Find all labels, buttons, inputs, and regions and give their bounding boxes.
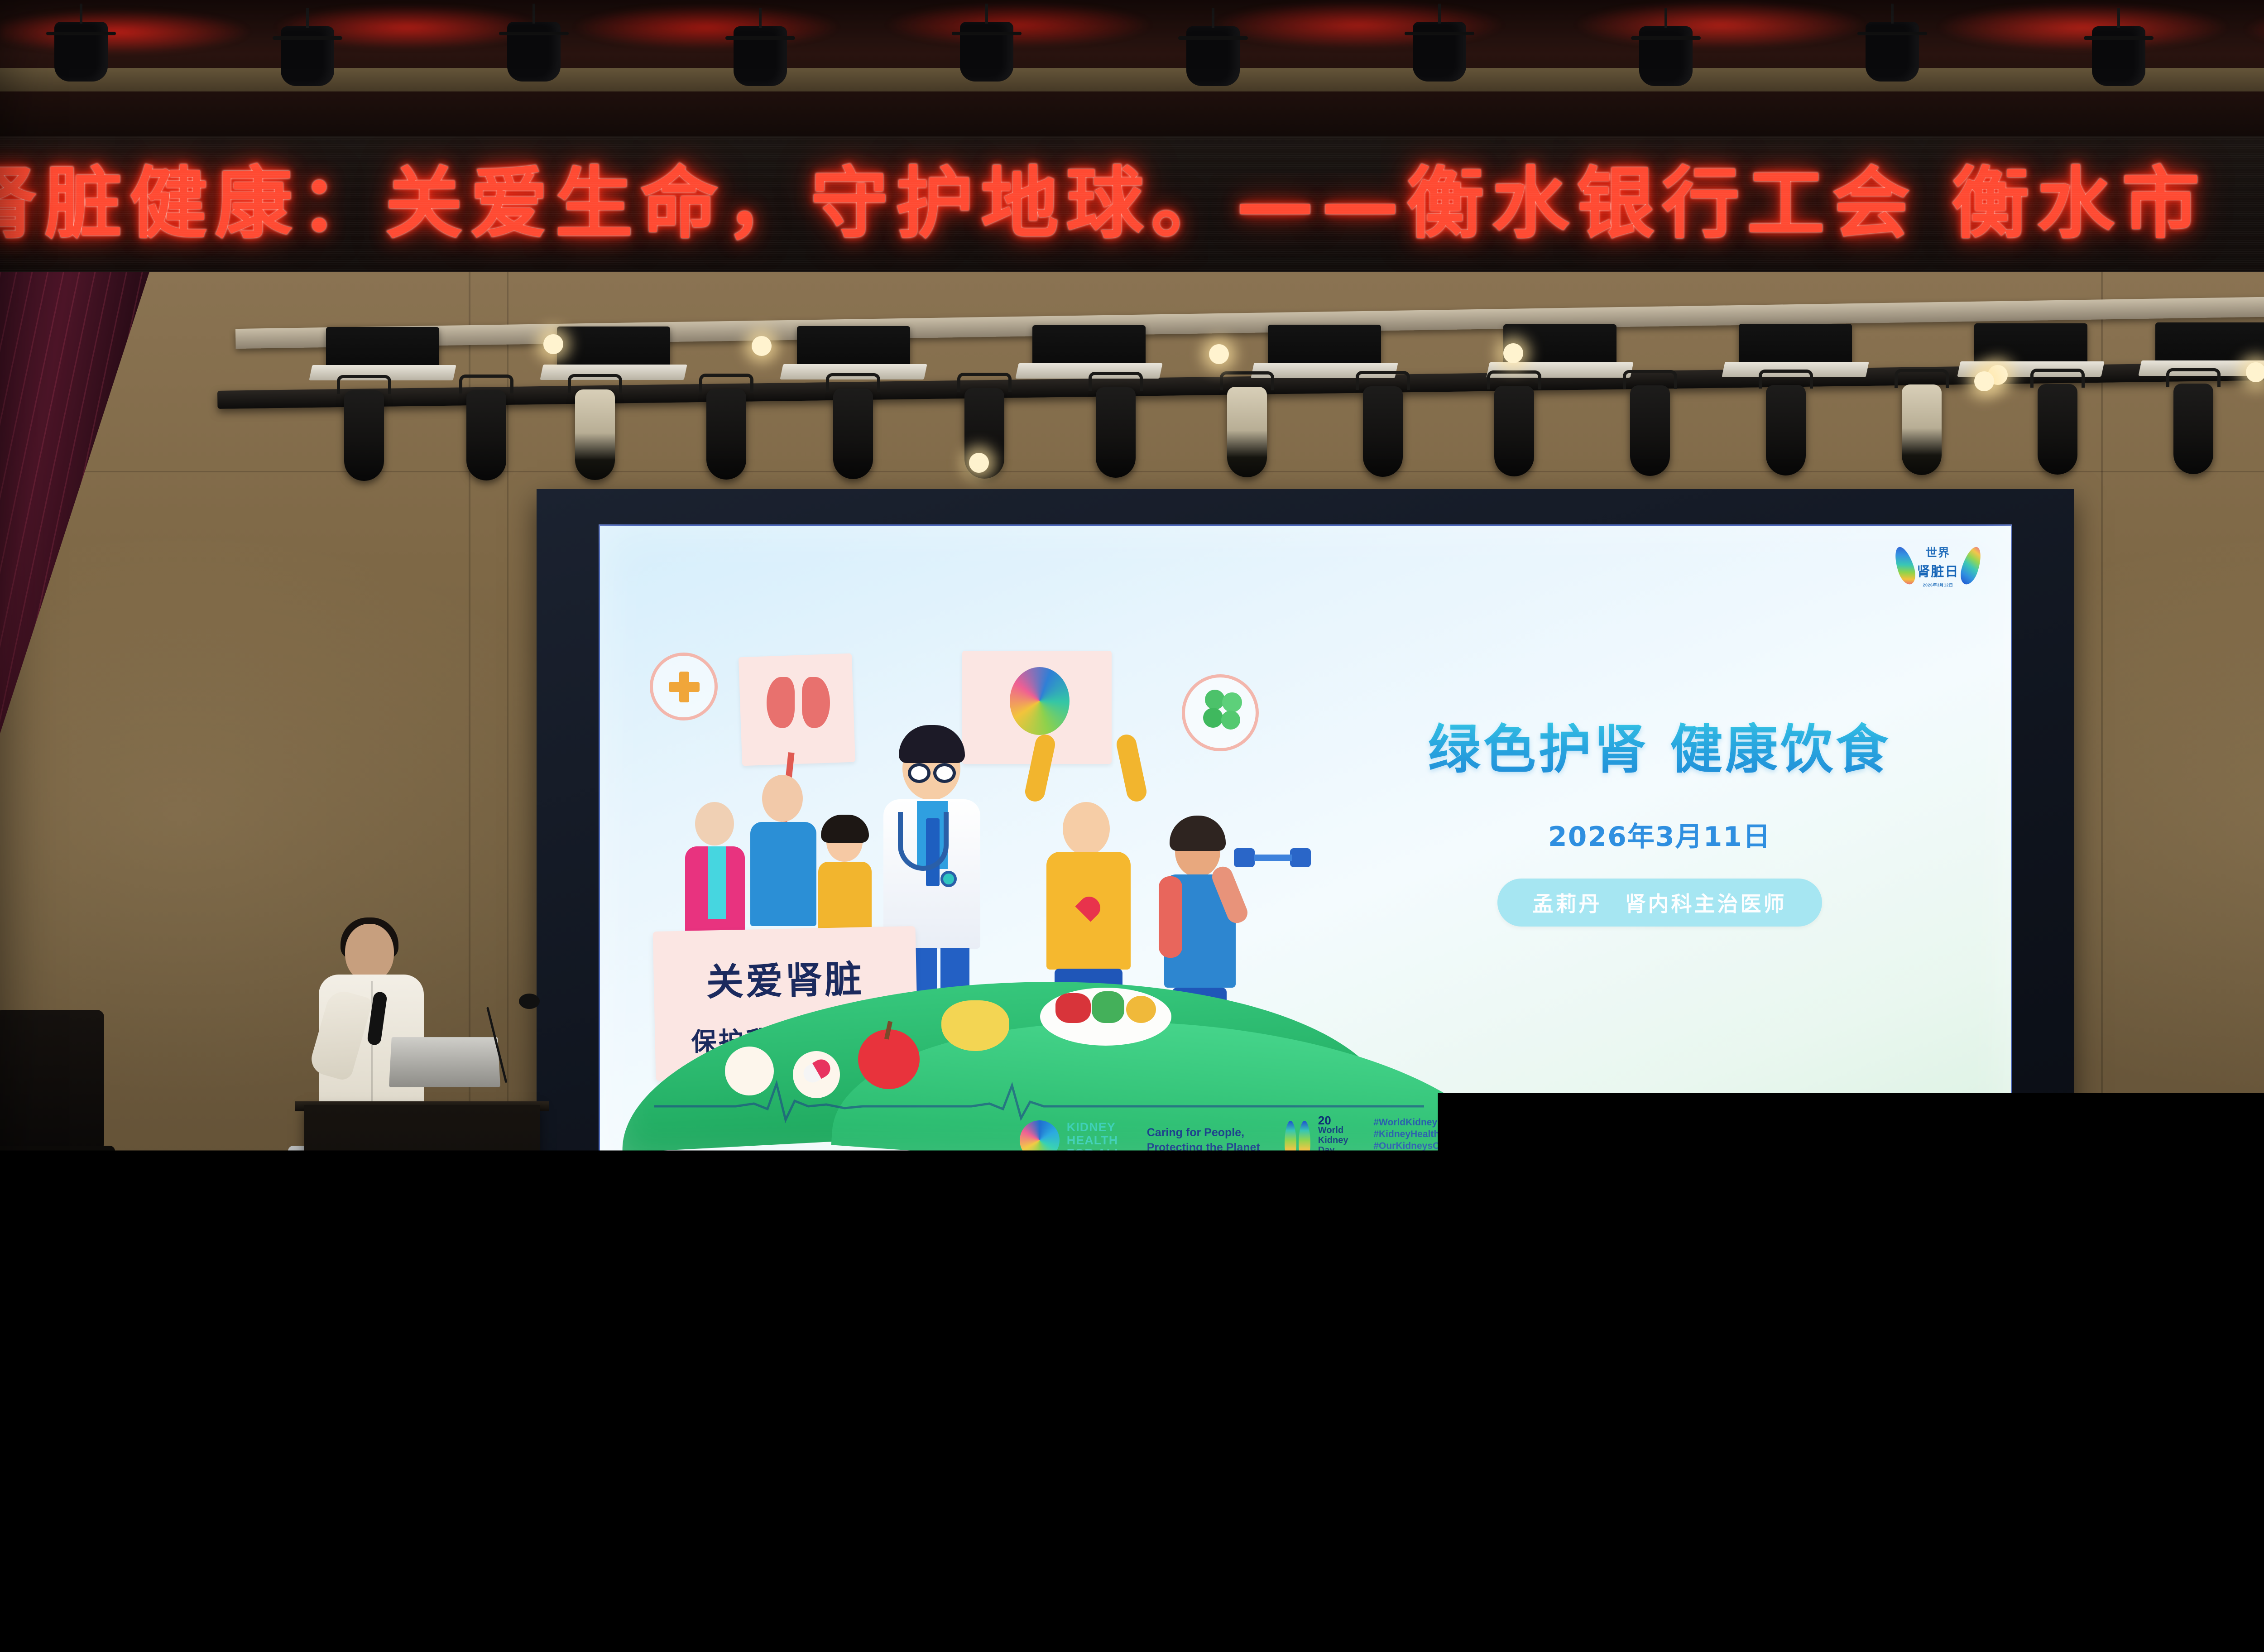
chair-cover-text: 有温度的银行 — [2240, 1536, 2264, 1549]
crowd-person-bald-blue — [762, 775, 803, 822]
wkd-logo-line1: 世界 — [1917, 544, 1959, 560]
spotlight-yoke — [1895, 369, 1949, 388]
wkd-small-line3: Day — [1318, 1145, 1349, 1155]
chair-cover-text: 有温度的银行 — [1503, 1453, 1653, 1466]
chair-fold — [1577, 1575, 1729, 1585]
stage-spotlight — [1363, 386, 1403, 477]
chair-cover-text: 有温度的银行 — [1979, 1453, 2128, 1466]
spotlight-yoke — [957, 373, 1012, 392]
stage-floodlight — [1739, 324, 1852, 367]
spotlight-yoke — [1759, 370, 1813, 389]
chair-fold — [967, 1345, 1076, 1352]
chair-fold — [1191, 1487, 1325, 1495]
lit-lamp — [2246, 362, 2264, 382]
audience-chair — [2162, 1553, 2264, 1652]
chair-cover-text: 更懂自己的银行 — [752, 1649, 942, 1652]
isn-logo: ISN — [1512, 1138, 1530, 1151]
stage-spotlight — [344, 390, 384, 481]
audience-chair — [0, 1553, 136, 1652]
spotlight-yoke — [826, 373, 880, 392]
wkd-small-line2: Kidney — [1318, 1135, 1349, 1145]
audience-seating: 有温度的银行更懂自己的银行有温度的银行更懂自己的银行有温度的银行更懂自己的银行有… — [0, 1340, 2264, 1652]
ceiling-beam — [0, 68, 2264, 91]
raised-arm-right — [1115, 733, 1148, 803]
ceiling-parcan — [1866, 22, 1919, 82]
spotlight-yoke — [1089, 372, 1143, 391]
stage-spotlight — [466, 390, 506, 480]
chair-fold — [2152, 1409, 2264, 1417]
floor-monitor-speaker — [2232, 1225, 2264, 1309]
stethoscope-icon — [898, 812, 949, 871]
audience-person-head — [341, 1374, 415, 1516]
stethoscope-chestpiece — [940, 871, 957, 887]
armchair-back — [0, 1010, 104, 1150]
spotlight-yoke — [337, 375, 391, 394]
spotlight-yoke — [1356, 371, 1410, 390]
stage-spotlight — [1630, 385, 1670, 476]
wkd-logo-line2: 肾脏日 — [1917, 561, 1959, 580]
mic-capsule-icon — [519, 994, 540, 1009]
gooseneck-microphone — [475, 995, 543, 1081]
kidney-health-for-all-logo: KIDNEY HEALTH FOR ALL — [1020, 1120, 1122, 1160]
chair-fold — [1980, 1575, 2132, 1585]
crowd-person-woman-pink — [695, 802, 734, 845]
stage-floodlight — [1268, 325, 1381, 368]
stage-spotlight — [1766, 385, 1806, 475]
stage-spotlight — [833, 389, 873, 479]
chair-cover-text: 有温度的银行 — [1175, 1536, 1342, 1549]
wkd-leaf-right-icon — [1957, 545, 1985, 587]
lit-lamp — [543, 334, 563, 354]
chair-fold — [1831, 1345, 1940, 1352]
world-kidney-day-logo: 世界 肾脏日 2026年3月12日 — [1890, 541, 1986, 590]
wkd-leaf-left-icon — [1891, 545, 1919, 587]
stage-floodlight — [1032, 325, 1146, 369]
spotlight-yoke — [699, 374, 753, 393]
stage-spotlight — [575, 389, 615, 480]
ifkf-wka-logo: IFKF-WKA — [1535, 1138, 1591, 1151]
stage-spotlight — [706, 389, 746, 480]
wall-seam — [2101, 272, 2103, 1336]
wkd-logo-text: 世界 肾脏日 2026年3月12日 — [1917, 544, 1959, 588]
chair-fold — [2079, 1487, 2213, 1495]
chair-fold — [481, 1487, 615, 1495]
ecg-waveform-icon — [654, 1075, 1424, 1124]
chair-fold — [1543, 1345, 1652, 1352]
ceiling-parcan — [960, 22, 1013, 82]
doctor-glasses-right — [933, 763, 956, 783]
sign-line-1: 关爱肾脏 — [706, 949, 864, 1006]
floor-monitor-speaker — [625, 1218, 774, 1302]
medical-cross-icon — [669, 672, 700, 702]
stage-floodlight — [2155, 322, 2264, 366]
floor-monitor-speaker — [1037, 1220, 1186, 1304]
audience-chair — [1155, 1553, 1345, 1652]
chair-fold — [1174, 1575, 1326, 1585]
chair-cover-text: 有温度的银行 — [752, 1628, 942, 1642]
armchair-seat — [0, 1146, 115, 1186]
khfa-line2: HEALTH — [1067, 1134, 1122, 1147]
audience-person-head — [125, 1340, 189, 1432]
doctor-glasses-left — [908, 763, 931, 783]
stage-floodlight — [326, 327, 439, 370]
lit-lamp — [752, 336, 772, 356]
wkd-ribbon-icon — [1285, 1121, 1313, 1160]
chair-cover-text: 有温度的银行 — [77, 1453, 226, 1466]
presenter-head — [345, 924, 394, 982]
audience-person-head — [759, 1340, 823, 1432]
hashtag-3: #OurKidneysOurPlanet — [1373, 1140, 1478, 1152]
audience-person-head — [2027, 1340, 2091, 1432]
lit-lamp — [1503, 343, 1523, 363]
ceiling-parcan — [2092, 26, 2145, 86]
ceiling-parcan — [1413, 22, 1466, 82]
partner-note-2: a joint initiative of — [1512, 1129, 1591, 1135]
tagline-line1: Caring for People, — [1147, 1125, 1260, 1140]
lit-lamp — [1974, 371, 1994, 391]
audience-person-head — [1417, 1448, 1501, 1608]
chair-fold — [836, 1487, 970, 1495]
wkd-small-line1: World — [1318, 1125, 1349, 1135]
ceiling-parcan — [54, 22, 108, 82]
floor-monitor-speaker — [1639, 1222, 1789, 1306]
audience-chair: 有温度的银行更懂自己的银行 — [1961, 1553, 2151, 1652]
led-banner-text: 肾脏健康：关爱生命，守护地球。——衡水银行工会 衡水市 — [0, 154, 2207, 254]
slide-title: 绿色护肾 健康饮食 — [1343, 707, 1976, 783]
ceiling-parcan — [734, 26, 787, 86]
chair-fold — [884, 1409, 1004, 1417]
spotlight-yoke — [2030, 369, 2085, 388]
projection-screen-surface[interactable]: 世界 肾脏日 2026年3月12日 — [599, 524, 2012, 1176]
slide-date: 2026年3月11日 — [1343, 815, 1976, 854]
audience-chair — [349, 1553, 539, 1652]
website-url[interactable]: worldkidneyday.org — [1373, 1152, 1478, 1164]
doctor-hair — [899, 725, 965, 763]
spotlight-yoke — [2166, 368, 2221, 387]
spotlight-yoke — [459, 375, 513, 394]
wkd-logo-date: 2026年3月12日 — [1917, 582, 1959, 588]
chair-cover-text: 有温度的银行 — [1356, 1628, 1546, 1642]
chair-fold — [2256, 1487, 2264, 1495]
audience-chair — [1558, 1553, 1748, 1652]
slide-illustration: 关爱肾脏 保护我们的地球 — [645, 639, 1288, 1114]
audience-chair: 有温度的银行更懂自己的银行 — [752, 1553, 942, 1652]
chair-fold — [1901, 1487, 2035, 1495]
audience-person-head — [696, 1374, 770, 1516]
chair-fold — [368, 1575, 520, 1585]
kidneys-icon — [767, 677, 835, 740]
chair-fold — [2181, 1575, 2264, 1585]
chair-fold — [0, 1575, 117, 1585]
dumbbell-icon — [1234, 848, 1311, 867]
slide-speaker-badge: 孟莉丹 肾内科主治医师 — [1497, 879, 1822, 927]
stage-spotlight — [1902, 384, 1942, 475]
ceiling-parcan — [507, 22, 561, 82]
clover-leaf-icon — [1200, 690, 1246, 735]
mic-stem — [486, 1007, 507, 1083]
corn-icon — [941, 1000, 1009, 1051]
stage-spotlight — [1096, 387, 1136, 478]
audience-person-head — [611, 1448, 695, 1608]
chair-fold — [567, 1409, 687, 1417]
spotlight-yoke — [1487, 370, 1541, 389]
ceiling-parcan — [281, 26, 334, 86]
partner-block: World Kidney Day is a joint initiative o… — [1502, 1122, 1591, 1159]
stage-spotlight — [2173, 384, 2213, 474]
copyright-text: © World Kidney Day 2006 - 2026 — [1512, 1154, 1591, 1159]
partner-logos: ISN IFKF-WKA — [1512, 1138, 1591, 1151]
audience-person-head — [1014, 1448, 1098, 1608]
chair-fold — [771, 1575, 923, 1585]
spotlight-yoke — [568, 374, 622, 393]
earth-kidney-icon — [1010, 667, 1070, 735]
chair-cover-text: 更懂自己的银行 — [1356, 1649, 1546, 1652]
chair-cover-text: 有温度的银行 — [1961, 1628, 2151, 1642]
globe-kidney-icon — [1020, 1120, 1060, 1160]
chair-cover-text: 更懂自己的银行 — [147, 1649, 337, 1652]
auditorium-photo: 肾脏健康：关爱生命，守护地球。——衡水银行工会 衡水市 世界 肾脏日 2026年… — [0, 0, 2264, 1652]
crowd-person-kid-yellow — [826, 822, 863, 862]
audience-person-head — [442, 1340, 506, 1432]
tagline: Caring for People, Protecting the Planet — [1147, 1125, 1260, 1155]
chair-cover-text: 更懂自己的银行 — [1961, 1649, 2151, 1652]
stage-floodlight — [797, 326, 910, 370]
stage-floodlight — [1974, 323, 2087, 367]
chair-fold — [2119, 1345, 2228, 1352]
plate-tomato — [1055, 993, 1091, 1023]
stage-spotlight — [1227, 387, 1267, 477]
khfa-line3: FOR ALL — [1067, 1147, 1122, 1160]
ceiling-parcan — [1639, 26, 1693, 86]
slide-text-block: 绿色护肾 健康饮食 2026年3月11日 孟莉丹 肾内科主治医师 — [1343, 707, 1976, 927]
stage-spotlight — [2038, 384, 2077, 475]
chair-fold — [1518, 1409, 1638, 1417]
lit-lamp — [969, 453, 989, 473]
stage-floodlight — [557, 327, 670, 370]
chair-fold — [1835, 1409, 1955, 1417]
chair-fold — [1546, 1487, 1680, 1495]
tagline-line2: Protecting the Planet — [1147, 1140, 1260, 1155]
plate-broccoli — [1092, 991, 1124, 1023]
hashtag-2: #KidneyHealthForAll — [1373, 1129, 1478, 1140]
chair-fold — [1201, 1409, 1321, 1417]
ceiling-parcan — [1186, 26, 1240, 86]
wkd-small-date: 12 MARCH 2026 — [1318, 1155, 1349, 1165]
plate-pepper — [1126, 996, 1156, 1023]
led-scrolling-banner: 肾脏健康：关爱生命，守护地球。——衡水银行工会 衡水市 — [0, 136, 2264, 272]
spotlight-yoke — [1220, 371, 1274, 390]
audience-person-head — [1820, 1448, 1904, 1608]
spotlight-yoke — [1623, 370, 1677, 389]
audience-person-head — [208, 1448, 292, 1608]
lit-lamp — [1209, 344, 1229, 364]
chair-fold — [1255, 1345, 1364, 1352]
chair-cover-text: 有温度的银行 — [147, 1628, 337, 1642]
partner-note-1: World Kidney Day is — [1512, 1122, 1591, 1129]
stage-spotlight — [1494, 386, 1534, 476]
khfa-text: KIDNEY HEALTH FOR ALL — [1067, 1121, 1122, 1160]
floor-monitor-speaker — [2033, 1224, 2182, 1307]
